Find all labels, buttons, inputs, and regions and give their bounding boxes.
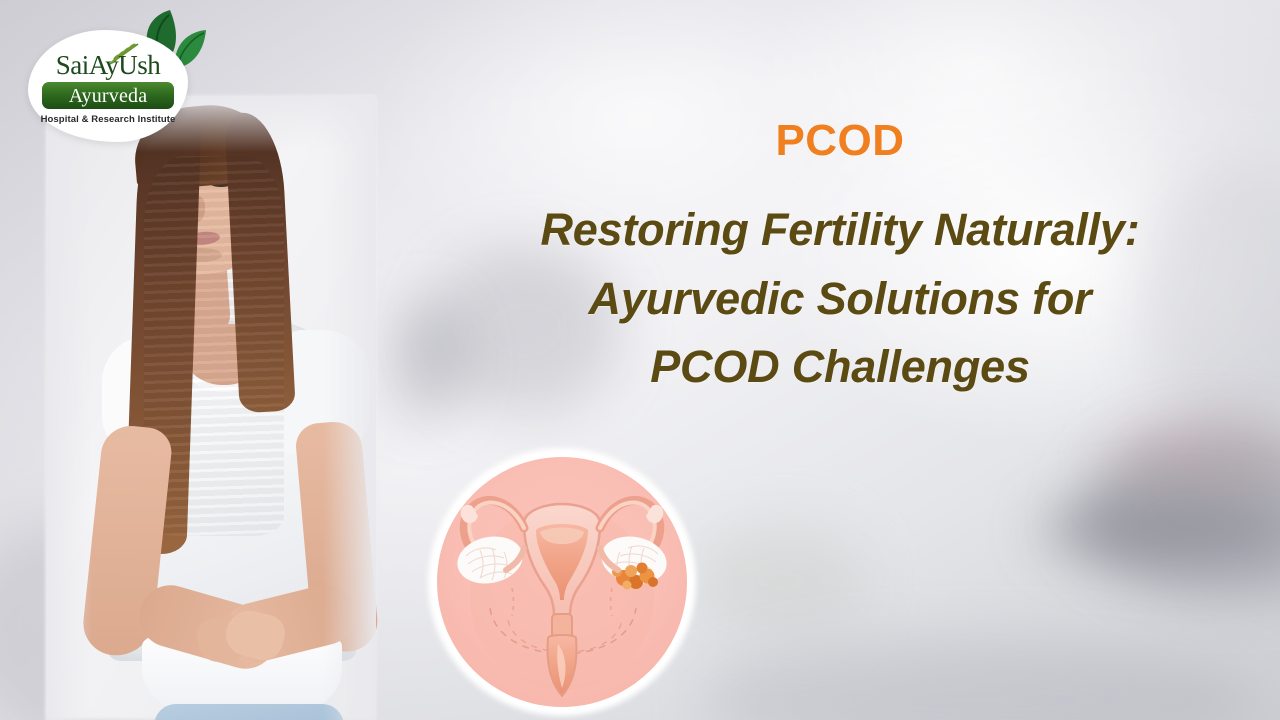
logo-content: SaiAyUsh Ayurveda Hospital & Research In… <box>28 30 188 142</box>
woman-photo <box>46 96 376 720</box>
page-title: Restoring Fertility Naturally: Ayurvedic… <box>470 196 1210 401</box>
logo-brand-text: SaiAyUsh <box>28 52 188 79</box>
logo-ayurveda-band: Ayurveda <box>42 82 174 109</box>
title-line-2: Ayurvedic Solutions for <box>470 265 1210 333</box>
uterus-anatomy-icon <box>428 448 696 716</box>
kicker-pcod: PCOD <box>470 118 1210 164</box>
title-line-3: PCOD Challenges <box>470 333 1210 401</box>
title-line-1: Restoring Fertility Naturally: <box>470 196 1210 264</box>
jeans <box>154 704 344 720</box>
brand-logo[interactable]: SaiAyUsh Ayurveda Hospital & Research In… <box>28 8 198 143</box>
headline-block: PCOD Restoring Fertility Naturally: Ayur… <box>470 118 1210 401</box>
uterus-diagram <box>428 448 696 716</box>
pcod-banner: SaiAyUsh Ayurveda Hospital & Research In… <box>0 0 1280 720</box>
logo-subtitle: Hospital & Research Institute <box>28 114 188 125</box>
logo-ayurveda-text: Ayurveda <box>69 86 148 106</box>
